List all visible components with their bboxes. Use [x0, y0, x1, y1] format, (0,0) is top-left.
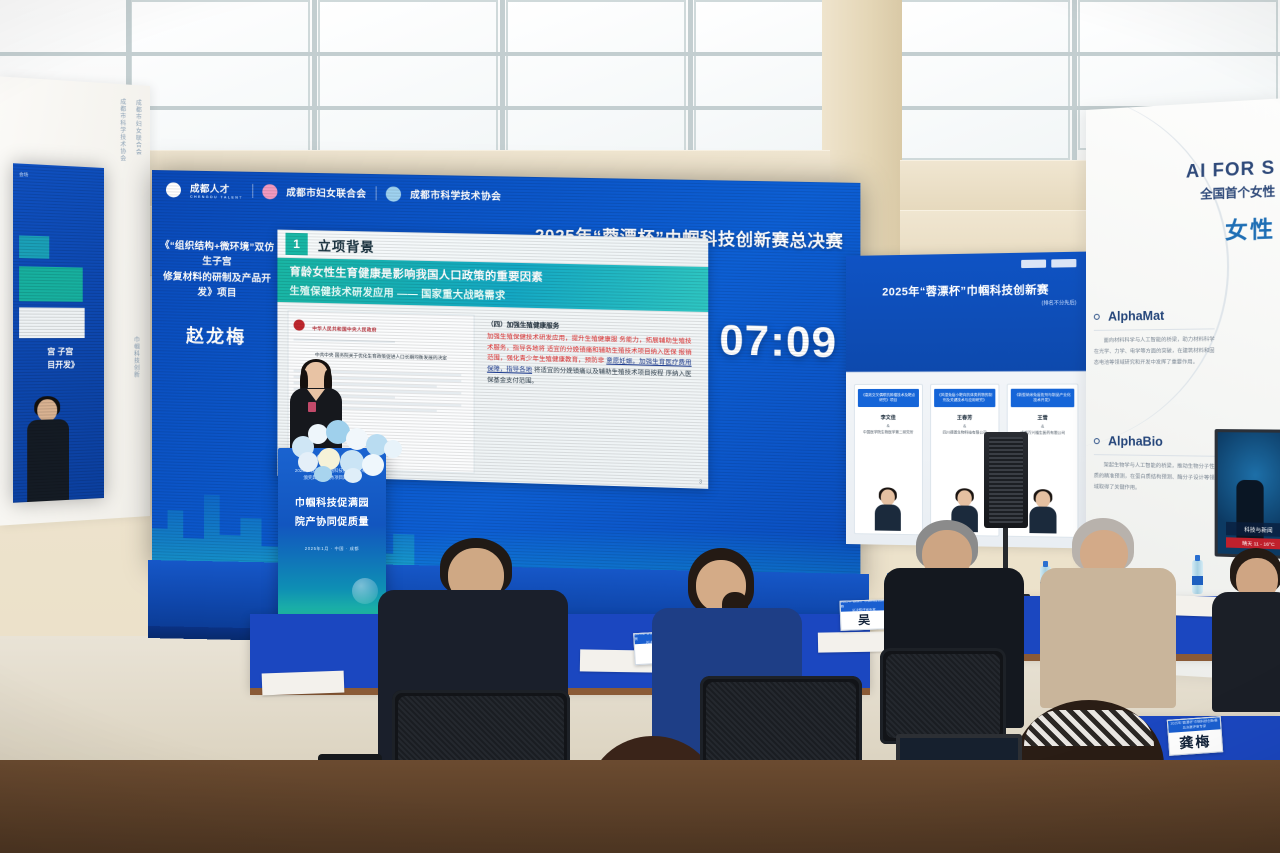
slide-page-number: 3 — [699, 479, 702, 485]
side-led-green-block — [19, 266, 83, 302]
slide-paragraph-6: 将适宜的分娩镇痛以及辅助生殖技术项目按程 — [534, 367, 664, 377]
logo-divider — [376, 186, 377, 200]
doc-rule — [294, 339, 395, 344]
chengdu-talent-logo-icon — [166, 182, 181, 197]
conference-hall-photo: 成都市妇女联合会 成都市科学技术协会 巾帼科技创新 会场 宫 子宫 目开发》 成… — [0, 0, 1280, 853]
card-amp: & — [1011, 423, 1074, 428]
figure-hair — [34, 396, 60, 417]
card-amp: & — [934, 423, 996, 428]
window-pane — [506, 0, 686, 166]
tv-caption: 科技与新闻 — [1226, 522, 1280, 537]
finalist-card: 《高效交叉偶联抗肿瘤技术及靶点研究》项目 李文佳 & 中国医学院生物医学第二研究… — [854, 384, 923, 535]
card-amp: & — [858, 423, 919, 428]
card-name: 王雪 — [1011, 414, 1074, 421]
board-logo-icon — [1051, 259, 1076, 268]
water-bottle — [1192, 560, 1203, 594]
judge-body — [1212, 592, 1280, 712]
presenter-badge — [308, 402, 316, 412]
card-org: 中国医学院生物医学第二研究所 — [858, 430, 919, 435]
flower — [384, 440, 402, 458]
project-title-line-1: 《“组织结构+微环境”双仿生子宫 — [160, 240, 274, 268]
flower — [314, 466, 332, 482]
flower-arrangement — [288, 418, 406, 484]
side-led-text: 宫 子宫 目开发》 — [47, 346, 79, 372]
board-logo-icon — [1021, 259, 1046, 268]
judge-body — [1040, 568, 1176, 708]
side-led-white-block — [19, 307, 85, 338]
presenter-name: 赵龙梅 — [152, 321, 280, 350]
podium-slogan-line-2: 院产协同促质量 — [295, 517, 369, 528]
slide-body-paragraph: 加强生殖保健技术研发应用，提升生殖健康服 务能力，拓展辅助生殖技术服务，指导各地… — [487, 332, 692, 391]
office-chair — [880, 648, 1006, 744]
sponsor-logo-bar: 成都人才 CHENGDU TALENT 成都市妇女联合会 成都市科学技术协会 — [166, 180, 501, 205]
slide-body-heading: （四）加强生殖健康服务 — [487, 319, 692, 333]
podium-date: 2025年1月 · 中国 · 成都 — [278, 546, 386, 552]
portrait-head — [881, 489, 895, 505]
figure-head — [37, 399, 57, 422]
podium-slogan: 巾帼科技促满园 院产协同促质量 — [278, 494, 386, 532]
ai-for-big-text: 女性 — [1225, 211, 1275, 246]
womens-federation-logo-icon — [262, 184, 277, 199]
card-project-title: 《风湿免疫小靶向抗体类药物的制剂及关键技术与应用研究》 — [934, 389, 996, 407]
project-title: 《“组织结构+微环境”双仿生子宫 修复材料的研制及产品开发》项目 — [152, 228, 280, 302]
flower — [362, 454, 384, 476]
board-logo-row — [1021, 259, 1076, 268]
wall-vertical-text-3: 巾帼科技创新 — [132, 336, 141, 447]
national-emblem-icon — [294, 320, 305, 331]
portrait-head — [957, 490, 971, 506]
portrait-head — [1035, 491, 1050, 508]
card-name: 王春芳 — [934, 414, 996, 421]
flower — [308, 424, 328, 444]
alphamat-body: 面向材料科学与人工智能的桥梁，助力材料科学在光学、力学、电学等方面的突破，在建筑… — [1094, 335, 1215, 369]
sponsor-sublabel-1: CHENGDU TALENT — [190, 195, 243, 200]
alphabio-section: AlphaBio 架起生物学与人工智能的桥梁，推动生物分子性质的精准预测，在蛋白… — [1094, 432, 1215, 496]
slide-section-number: 1 — [286, 233, 308, 256]
chair-mesh — [886, 654, 1000, 738]
sponsor-label-3: 成都市科学技术协会 — [410, 187, 501, 203]
project-title-panel: 《“组织结构+微环境”双仿生子宫 修复材料的研制及产品开发》项目 赵龙梅 — [152, 228, 280, 472]
section-rule — [1094, 454, 1215, 457]
sponsor-label-2: 成都市妇女联合会 — [286, 185, 366, 201]
wall-vertical-text-2: 成都市科学技术协会 — [118, 98, 127, 229]
ai-for-subheadline: 全国首个女性 — [1200, 182, 1275, 203]
alphamat-title: AlphaMat — [1108, 308, 1164, 323]
side-led-teal-block — [19, 235, 49, 258]
window-mullion — [0, 52, 1280, 56]
wall-vertical-text-1: 成都市妇女联合会 — [133, 99, 142, 230]
science-association-logo-icon — [386, 186, 401, 201]
side-led-line-1: 宫 子宫 — [47, 347, 73, 356]
card-project-title: 《新型纳米免疫佐剂与制品产业化技术开发》 — [1011, 389, 1074, 408]
card-name: 李文佳 — [858, 414, 919, 421]
countdown-timer: 07:09 — [719, 315, 837, 367]
slide-section-title: 立项背景 — [318, 235, 375, 255]
board-subtitle: (排名不分先后) — [1042, 299, 1077, 307]
finalists-display-board: 2025年“蓉漂杯”巾帼科技创新赛 (排名不分先后) 《高效交叉偶联抗肿瘤技术及… — [846, 252, 1087, 549]
alphamat-section: AlphaMat 面向材料科学与人工智能的桥梁，助力材料科学在光学、力学、电学等… — [1094, 306, 1215, 369]
card-project-title: 《高效交叉偶联抗肿瘤技术及靶点研究》项目 — [858, 389, 919, 407]
ai-for-headline: AI FOR S — [1186, 157, 1275, 183]
sponsor-label-1: 成都人才 — [190, 184, 230, 196]
window-mullion — [1072, 0, 1077, 160]
sponsor-name-1: 成都人才 CHENGDU TALENT — [190, 181, 243, 200]
slide-text-column: （四）加强生殖健康服务 加强生殖保健技术研发应用，提升生殖健康服 务能力，拓展辅… — [481, 315, 698, 481]
bullet-icon — [1094, 314, 1100, 320]
foreground-table-surface — [0, 760, 1280, 853]
alphabio-body: 架起生物学与人工智能的桥梁，推动生物分子性质的精准预测，在蛋白质结构预测、酶分子… — [1094, 460, 1215, 495]
wall-mounted-tv: 科技与新闻 晴天 11 - 16°C — [1215, 429, 1280, 561]
board-title: 2025年“蓉漂杯”巾帼科技创新赛 — [846, 280, 1087, 300]
podium-slogan-line-1: 巾帼科技促满园 — [295, 498, 369, 509]
slide-paragraph-1: 加强生殖保健技术研发应用，提升生殖健康服 — [487, 333, 617, 343]
judge-placard: 2025年“蓉漂杯”巾帼科技创新赛 总决赛评审专家 吴 — [839, 599, 888, 631]
paper-sheet — [818, 631, 892, 652]
slide-paragraph-3: 适宜的分娩镇痛和辅助生殖技术项目纳入医保 — [547, 345, 677, 355]
loudspeaker — [984, 432, 1028, 528]
seated-judge — [1212, 548, 1280, 698]
alphabio-title: AlphaBio — [1108, 434, 1163, 449]
window-pane — [900, 0, 1070, 160]
placard-name: 吴 — [841, 610, 888, 630]
side-led-screen: 会场 宫 子宫 目开发》 — [13, 163, 104, 503]
bullet-icon — [1094, 438, 1100, 444]
project-title-line-2: 修复材料的研制及产品开发》项目 — [163, 271, 271, 299]
logo-divider — [252, 184, 253, 198]
speaker-grill — [989, 437, 1023, 523]
paper-sheet — [262, 671, 345, 696]
section-rule — [1094, 328, 1215, 331]
side-led-header: 会场 — [19, 172, 28, 179]
podium-decorative-orb — [352, 578, 378, 604]
side-led-speaker-figure — [27, 399, 69, 502]
main-led-screen: 成都人才 CHENGDU TALENT 成都市妇女联合会 成都市科学技术协会 2… — [152, 170, 860, 594]
flower — [346, 428, 368, 450]
side-led-line-2: 目开发》 — [47, 360, 79, 369]
figure-body — [27, 419, 69, 502]
decorative-arc — [1086, 98, 1229, 452]
bottle-label — [1192, 576, 1203, 585]
seated-judge — [1040, 518, 1176, 698]
document-header: 中华人民共和国中央人民政府 — [294, 316, 469, 338]
finalist-card-list: 《高效交叉偶联抗肿瘤技术及靶点研究》项目 李文佳 & 中国医学院生物医学第二研究… — [854, 384, 1079, 538]
flower — [344, 468, 362, 483]
window-pane — [694, 0, 824, 152]
document-org: 中华人民共和国中央人民政府 — [312, 326, 377, 333]
